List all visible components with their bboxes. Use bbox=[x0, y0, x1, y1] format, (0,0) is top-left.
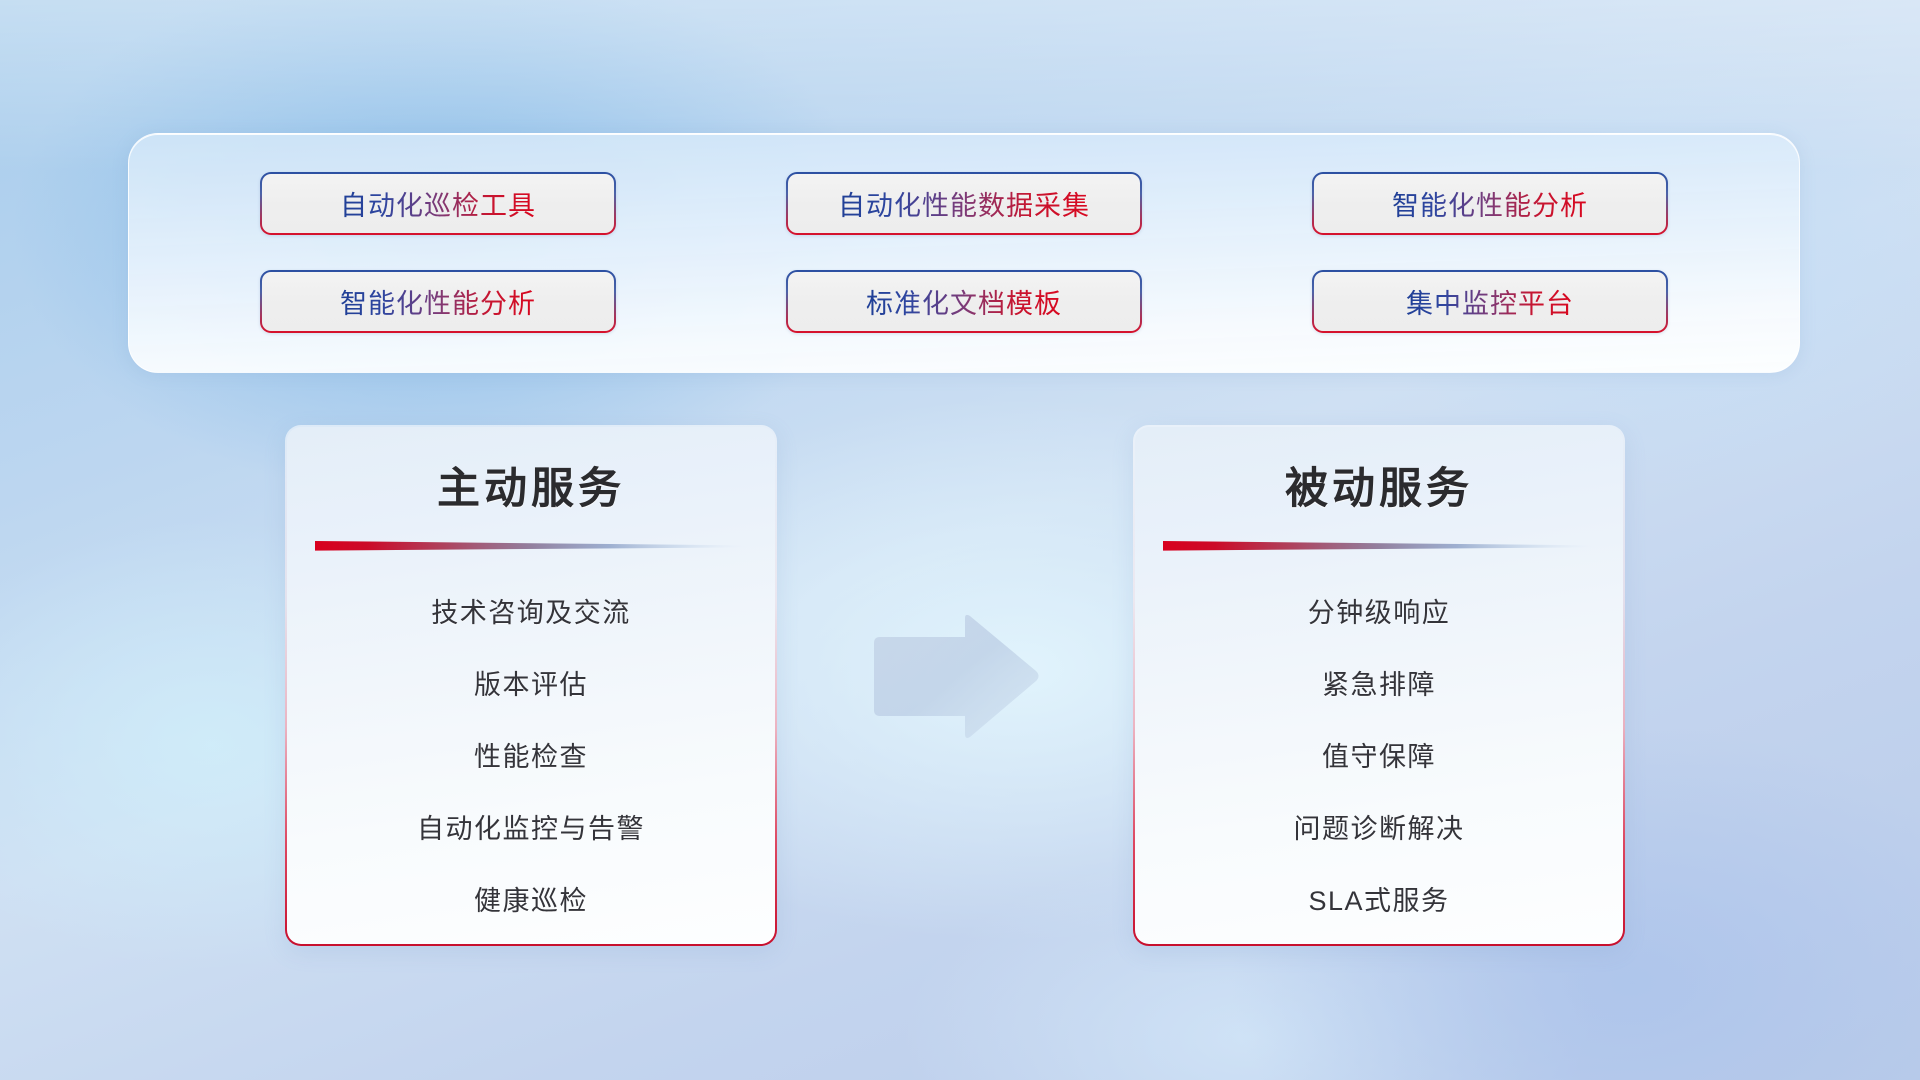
service-card-passive-divider-wrap bbox=[1135, 539, 1623, 555]
capability-pill-4-surface: 智能化性能分析 bbox=[262, 272, 614, 331]
capability-pill-4[interactable]: 智能化性能分析 bbox=[260, 270, 616, 333]
capability-pill-3-surface: 智能化性能分析 bbox=[1314, 174, 1666, 233]
capability-pill-4-label: 智能化性能分析 bbox=[340, 282, 536, 321]
service-card-active-list: 技术咨询及交流 版本评估 性能检查 自动化监控与告警 健康巡检 bbox=[287, 577, 775, 937]
gradient-wedge-divider-icon bbox=[1163, 539, 1595, 552]
list-item: 技术咨询及交流 bbox=[431, 577, 631, 649]
list-item: 版本评估 bbox=[474, 649, 588, 721]
service-card-active-divider-wrap bbox=[287, 539, 775, 555]
right-arrow-icon bbox=[868, 613, 1041, 741]
capability-pill-6-surface: 集中监控平台 bbox=[1314, 272, 1666, 331]
capabilities-panel: 自动化巡检工具 自动化性能数据采集 智能化性能分析 智能化性能分析 标准化文档模… bbox=[128, 133, 1800, 373]
service-card-active: 主动服务 技术咨询及交流 版本评估 bbox=[285, 425, 777, 946]
service-card-passive-list: 分钟级响应 紧急排障 值守保障 问题诊断解决 SLA式服务 bbox=[1135, 577, 1623, 937]
capability-pill-3[interactable]: 智能化性能分析 bbox=[1312, 172, 1668, 235]
service-card-active-title: 主动服务 bbox=[437, 454, 625, 516]
capability-pill-1[interactable]: 自动化巡检工具 bbox=[260, 172, 616, 235]
list-item: 自动化监控与告警 bbox=[417, 793, 645, 865]
gradient-wedge-divider-icon bbox=[315, 539, 747, 552]
service-card-passive-surface: 被动服务 分钟级响应 紧急排障 bbox=[1135, 427, 1623, 944]
list-item: 问题诊断解决 bbox=[1294, 793, 1465, 865]
capability-pill-2[interactable]: 自动化性能数据采集 bbox=[786, 172, 1142, 235]
list-item: 紧急排障 bbox=[1322, 649, 1436, 721]
service-card-active-surface: 主动服务 技术咨询及交流 版本评估 bbox=[287, 427, 775, 944]
list-item: 分钟级响应 bbox=[1308, 577, 1451, 649]
list-item: 健康巡检 bbox=[474, 865, 588, 937]
capability-pill-2-label: 自动化性能数据采集 bbox=[838, 184, 1090, 223]
capability-pill-6[interactable]: 集中监控平台 bbox=[1312, 270, 1668, 333]
list-item: SLA式服务 bbox=[1308, 865, 1449, 937]
capability-pill-3-label: 智能化性能分析 bbox=[1392, 184, 1588, 223]
capability-pill-5-label: 标准化文档模板 bbox=[866, 282, 1062, 321]
capability-pill-1-label: 自动化巡检工具 bbox=[340, 184, 536, 223]
capability-pill-5-surface: 标准化文档模板 bbox=[788, 272, 1140, 331]
service-card-passive: 被动服务 分钟级响应 紧急排障 bbox=[1133, 425, 1625, 946]
list-item: 值守保障 bbox=[1322, 721, 1436, 793]
list-item: 性能检查 bbox=[474, 721, 588, 793]
service-card-passive-title: 被动服务 bbox=[1285, 454, 1473, 516]
capability-pill-5[interactable]: 标准化文档模板 bbox=[786, 270, 1142, 333]
capabilities-grid: 自动化巡检工具 自动化性能数据采集 智能化性能分析 智能化性能分析 标准化文档模… bbox=[129, 134, 1799, 372]
capability-pill-1-surface: 自动化巡检工具 bbox=[262, 174, 614, 233]
capability-pill-2-surface: 自动化性能数据采集 bbox=[788, 174, 1140, 233]
capability-pill-6-label: 集中监控平台 bbox=[1406, 282, 1574, 321]
